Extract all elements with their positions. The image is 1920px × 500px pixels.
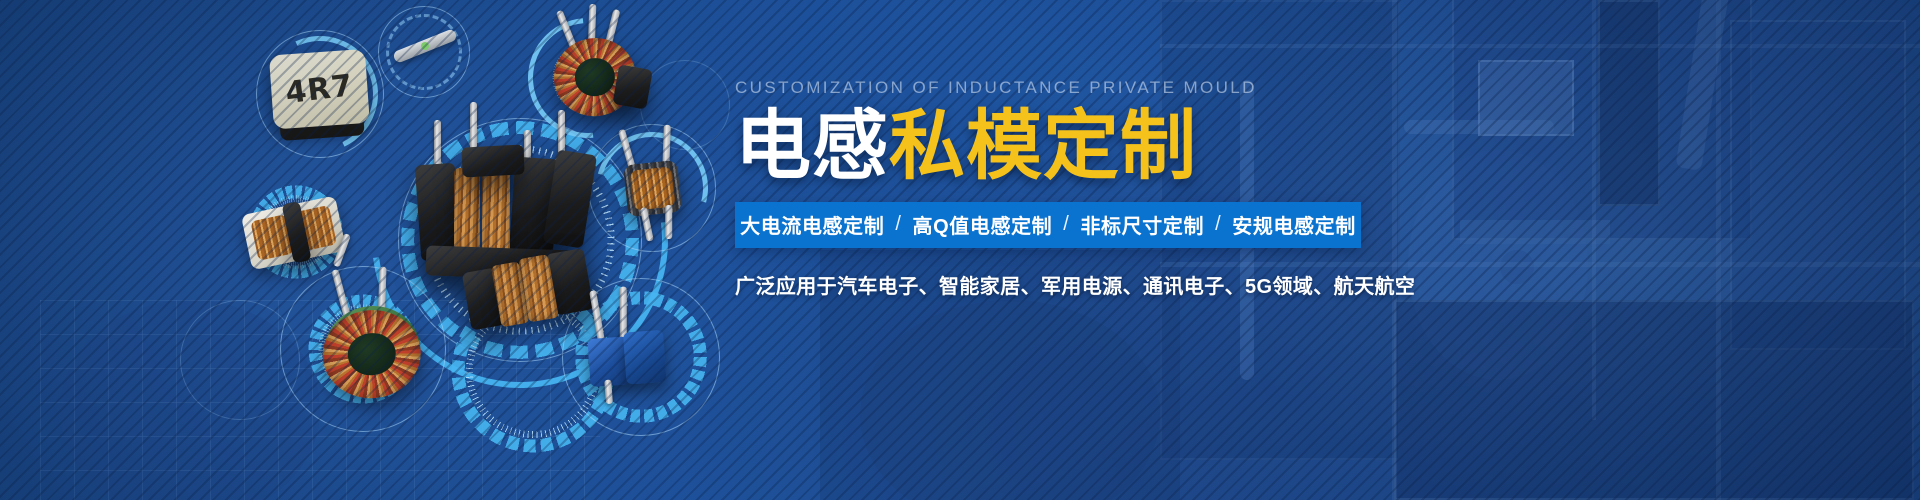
feature-item-2: 高Q值电感定制 — [913, 210, 1053, 239]
core-clip — [612, 64, 652, 109]
inductor-lead — [665, 205, 672, 239]
feature-list: 大电流电感定制 / 高Q值电感定制 / 非标尺寸定制 / 安规电感定制 — [740, 210, 1356, 239]
inductor-body: 4R7 — [269, 49, 370, 130]
core-bridge — [461, 144, 524, 177]
feature-item-4: 安规电感定制 — [1232, 210, 1356, 239]
machine-keypad — [1460, 220, 1610, 244]
english-subtitle: CUSTOMIZATION OF INDUCTANCE PRIVATE MOUL… — [735, 78, 1435, 98]
smd-power-inductor: 4R7 — [269, 49, 375, 148]
promo-banner: 4R7 — [0, 0, 1920, 500]
banner-copy: CUSTOMIZATION OF INDUCTANCE PRIVATE MOUL… — [735, 78, 1435, 299]
axial-ferrite-choke — [607, 139, 709, 244]
feature-separator: / — [1063, 213, 1069, 236]
feature-separator: / — [895, 213, 901, 236]
machine-dial — [1500, 250, 1534, 284]
feature-item-3: 非标尺寸定制 — [1080, 210, 1204, 239]
copper-winding — [630, 166, 676, 210]
color-band — [420, 41, 430, 51]
page-title: 电感私模定制 — [735, 108, 1435, 186]
hud-ring-thin — [180, 300, 300, 420]
inductor-marking: 4R7 — [267, 47, 371, 132]
radial-blue-inductor — [574, 288, 691, 405]
feature-bar: 大电流电感定制 / 高Q值电感定制 / 非标尺寸定制 / 安规电感定制 — [735, 202, 1361, 248]
copper-winding — [318, 305, 425, 403]
inductor-body — [623, 330, 667, 385]
tagline: 广泛应用于汽车电子、智能家居、军用电源、通讯电子、5G领域、航天航空 — [735, 270, 1435, 299]
headline-primary: 电感 — [735, 104, 889, 189]
machine-rail — [1160, 44, 1920, 48]
toroidal-common-mode-choke — [306, 282, 440, 412]
inductor-lead — [662, 125, 670, 165]
feature-item-1: 大电流电感定制 — [740, 210, 884, 239]
feature-separator: / — [1215, 213, 1221, 236]
machine-base — [1394, 300, 1914, 500]
machine-column — [1598, 0, 1660, 206]
machine-rail — [1592, 0, 1596, 420]
headline-accent: 私模定制 — [889, 104, 1197, 189]
machine-rail — [1716, 0, 1721, 500]
